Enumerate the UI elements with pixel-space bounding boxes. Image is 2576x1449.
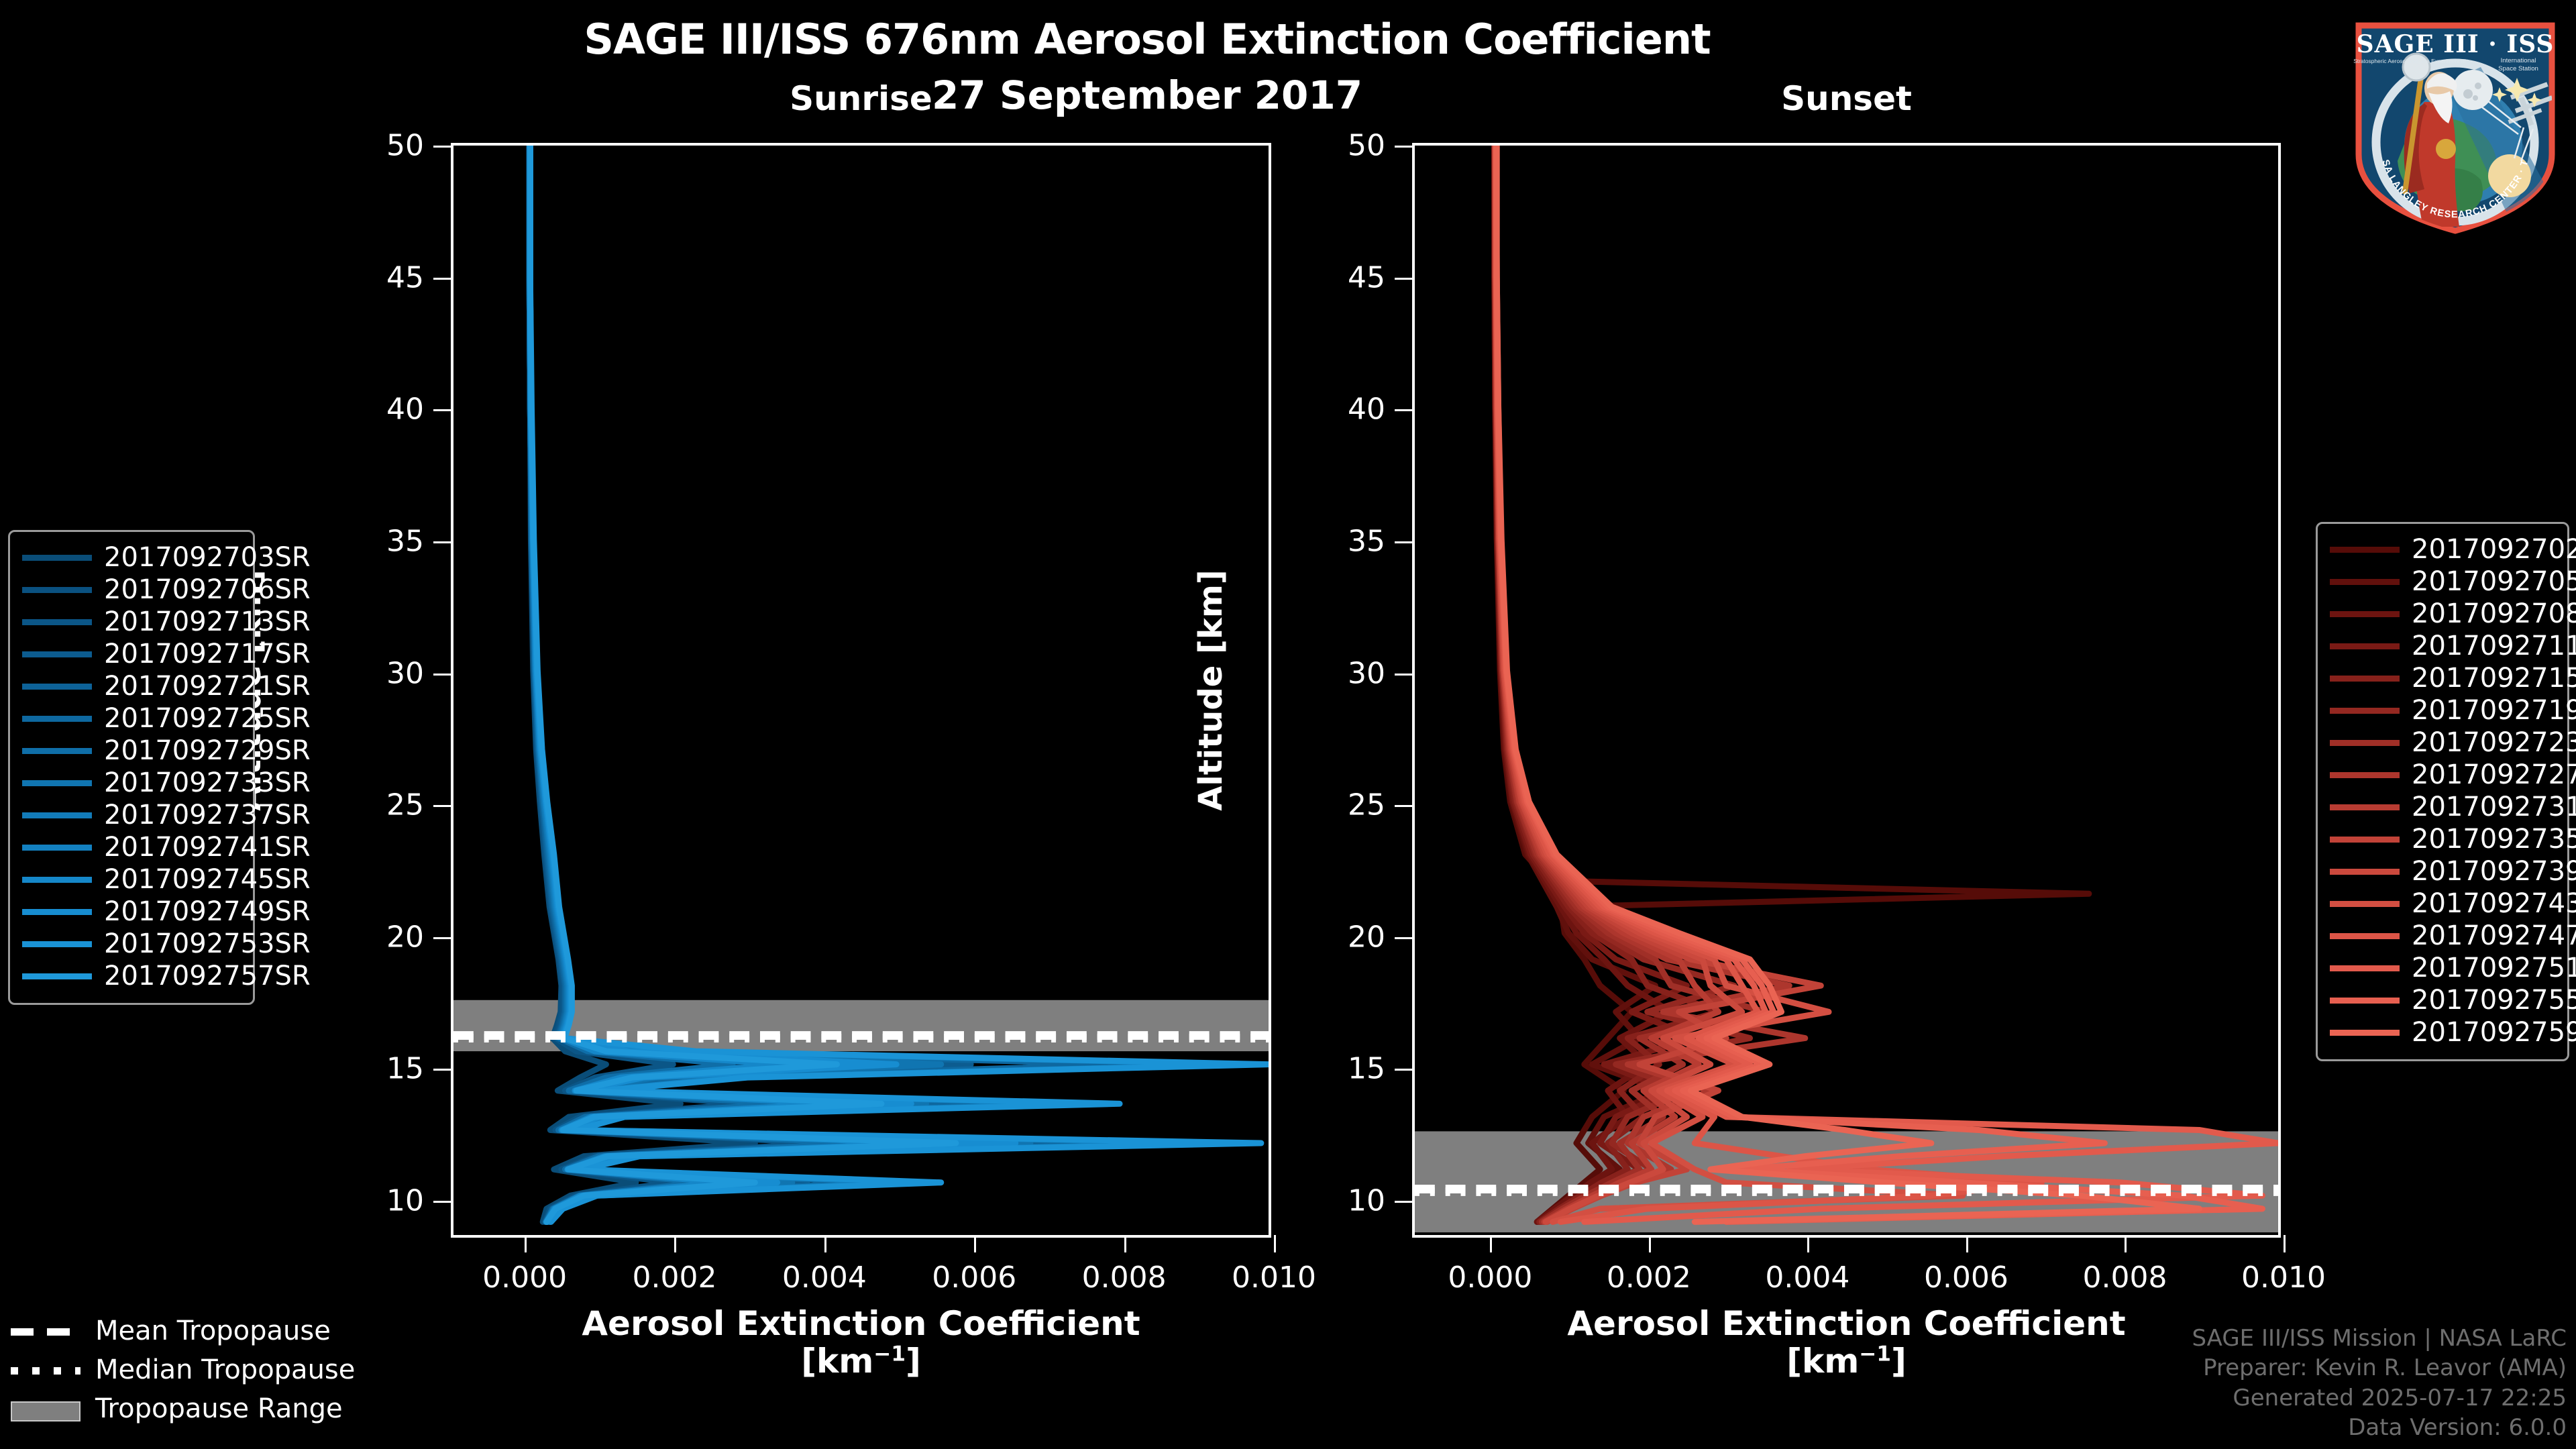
- legend-color-swatch: [22, 909, 92, 915]
- sunrise-legend-item[interactable]: 2017092706SR: [22, 574, 238, 606]
- legend-label: 2017092737SR: [104, 800, 311, 830]
- legend-color-swatch: [2330, 611, 2400, 617]
- plot-canvas: [453, 146, 1269, 1235]
- y-axis-tick: [1395, 146, 1415, 148]
- sunset-legend-item[interactable]: 2017092735SS: [2330, 823, 2553, 855]
- sunset-legend-item[interactable]: 2017092715SS: [2330, 662, 2553, 694]
- legend-color-swatch: [22, 780, 92, 786]
- y-axis-tick: [433, 674, 453, 676]
- sunset-plot: 1015202530354045500.0000.0020.0040.0060.…: [1412, 143, 2281, 1238]
- y-axis-tick: [1395, 409, 1415, 411]
- mean-tropopause-label: Mean Tropopause: [95, 1316, 331, 1346]
- x-axis-tick: [525, 1235, 527, 1252]
- legend-item-median-tropopause: Median Tropopause: [11, 1350, 360, 1389]
- sunrise-plot: 1015202530354045500.0000.0020.0040.0060.…: [451, 143, 1271, 1238]
- sunset-y-axis-title: Altitude [km]: [1192, 556, 1230, 824]
- sunrise-legend[interactable]: 2017092703SR2017092706SR2017092713SR2017…: [8, 530, 255, 1005]
- median-tropopause-label: Median Tropopause: [95, 1354, 355, 1385]
- x-axis-tick-label: 0.002: [1607, 1260, 1691, 1295]
- sunrise-legend-item[interactable]: 2017092749SR: [22, 896, 238, 928]
- y-axis-tick: [433, 541, 453, 543]
- legend-label: 2017092731SS: [2412, 792, 2576, 822]
- y-axis-tick-label: 20: [386, 920, 424, 954]
- x-axis-tick: [2284, 1235, 2286, 1252]
- legend-label: 2017092741SR: [104, 832, 311, 863]
- y-axis-tick: [1395, 1201, 1415, 1203]
- footer-line-version: Data Version: 6.0.0: [2192, 1413, 2567, 1442]
- y-axis-tick: [433, 937, 453, 939]
- legend-label: 2017092727SS: [2412, 759, 2576, 790]
- x-axis-title-line1: Aerosol Extinction Coefficient: [451, 1305, 1271, 1342]
- x-axis-tick-label: 0.000: [1448, 1260, 1532, 1295]
- legend-label: 2017092759SS: [2412, 1017, 2576, 1048]
- legend-label: 2017092721SR: [104, 671, 311, 702]
- legend-label: 2017092733SR: [104, 767, 311, 798]
- y-axis-tick: [433, 805, 453, 807]
- x-axis-tick-label: 0.008: [2082, 1260, 2167, 1295]
- x-axis-title-line2: [km−1]: [451, 1342, 1271, 1380]
- x-axis-tick-label: 0.006: [932, 1260, 1016, 1295]
- x-axis-tick: [1966, 1235, 1968, 1252]
- legend-label: 2017092729SR: [104, 735, 311, 766]
- legend-label: 2017092717SR: [104, 639, 311, 669]
- legend-label: 2017092735SS: [2412, 824, 2576, 855]
- legend-color-swatch: [2330, 965, 2400, 971]
- sunset-legend-item[interactable]: 2017092708SS: [2330, 598, 2553, 630]
- x-axis-tick-label: 0.010: [2241, 1260, 2326, 1295]
- sunrise-legend-item[interactable]: 2017092757SR: [22, 960, 238, 992]
- sunrise-legend-item[interactable]: 2017092721SR: [22, 670, 238, 702]
- sunrise-legend-item[interactable]: 2017092741SR: [22, 831, 238, 863]
- legend-label: 2017092719SS: [2412, 695, 2576, 726]
- footer-credits: SAGE III/ISS Mission | NASA LaRC Prepare…: [2192, 1324, 2567, 1442]
- y-axis-tick: [433, 146, 453, 148]
- legend-color-swatch: [22, 941, 92, 947]
- y-axis-tick-label: 45: [1348, 260, 1385, 294]
- y-axis-tick: [1395, 1069, 1415, 1071]
- sunset-legend-item[interactable]: 2017092723SS: [2330, 727, 2553, 759]
- logo-subtitle-left: Stratospheric Aerosol and Gas Experiment…: [2353, 58, 2466, 64]
- legend-label: 2017092711SS: [2412, 631, 2576, 661]
- x-axis-tick: [1124, 1235, 1126, 1252]
- legend-label: 2017092739SS: [2412, 856, 2576, 887]
- y-axis-tick-label: 35: [386, 524, 424, 558]
- legend-color-swatch: [2330, 804, 2400, 810]
- legend-label: 2017092713SR: [104, 606, 311, 637]
- footer-line-preparer: Preparer: Kevin R. Leavor (AMA): [2192, 1353, 2567, 1383]
- y-axis-tick-label: 45: [386, 260, 424, 294]
- legend-color-swatch: [2330, 869, 2400, 875]
- legend-color-swatch: [2330, 643, 2400, 649]
- legend-label: 2017092715SS: [2412, 663, 2576, 694]
- legend-color-swatch: [22, 748, 92, 754]
- tropopause-range-label: Tropopause Range: [95, 1393, 343, 1424]
- y-axis-tick-label: 25: [386, 788, 424, 822]
- profile-line: [1496, 146, 2041, 1222]
- legend-color-swatch: [22, 973, 92, 979]
- legend-item-tropopause-range: Tropopause Range: [11, 1389, 360, 1428]
- sunset-legend-item[interactable]: 2017092739SS: [2330, 855, 2553, 888]
- x-axis-tick: [1490, 1235, 1492, 1252]
- sunset-legend-item[interactable]: 2017092711SS: [2330, 630, 2553, 662]
- x-axis-tick-label: 0.010: [1232, 1260, 1316, 1295]
- legend-label: 2017092725SR: [104, 703, 311, 734]
- sunrise-panel-title: Sunrise: [451, 79, 1271, 118]
- x-axis-tick: [824, 1235, 826, 1252]
- x-axis-tick-label: 0.006: [1924, 1260, 2008, 1295]
- logo-subtitle-right-1: International: [2501, 57, 2536, 64]
- legend-color-swatch: [22, 845, 92, 851]
- x-axis-tick-label: 0.004: [1765, 1260, 1849, 1295]
- legend-color-swatch: [22, 555, 92, 561]
- sunset-legend-item[interactable]: 2017092705SS: [2330, 566, 2553, 598]
- legend-color-swatch: [2330, 998, 2400, 1004]
- x-axis-tick-label: 0.004: [782, 1260, 867, 1295]
- profile-line: [1495, 146, 1719, 1222]
- legend-label: 2017092703SR: [104, 542, 311, 573]
- y-axis-tick-label: 40: [1348, 392, 1385, 427]
- profile-line: [1495, 146, 1750, 1222]
- x-axis-tick: [1274, 1235, 1276, 1252]
- legend-color-swatch: [22, 684, 92, 690]
- y-axis-tick-label: 15: [386, 1052, 424, 1086]
- profile-line: [1495, 146, 1719, 1222]
- legend-color-swatch: [22, 812, 92, 818]
- sunrise-x-axis-title: Aerosol Extinction Coefficient [km−1]: [451, 1305, 1271, 1380]
- legend-label: 2017092745SR: [104, 864, 311, 895]
- mission-patch-icon: SAGE III · ISS Stratospheric Aerosol and…: [2339, 3, 2572, 236]
- legend-color-swatch: [2330, 901, 2400, 907]
- plot-canvas: [1415, 146, 2278, 1235]
- legend-color-swatch: [2330, 837, 2400, 843]
- footer-line-generated: Generated 2025-07-17 22:25: [2192, 1383, 2567, 1413]
- legend-label: 2017092708SS: [2412, 598, 2576, 629]
- sunset-x-axis-title: Aerosol Extinction Coefficient [km−1]: [1412, 1305, 2281, 1380]
- sage-iii-iss-mission-patch-logo: SAGE III · ISS Stratospheric Aerosol and…: [2339, 3, 2572, 236]
- dotted-line-icon: [11, 1361, 80, 1379]
- x-axis-title-line2: [km−1]: [1412, 1342, 2281, 1380]
- sunrise-legend-item[interactable]: 2017092753SR: [22, 928, 238, 960]
- legend-color-swatch: [22, 651, 92, 657]
- x-axis-tick: [974, 1235, 976, 1252]
- sunrise-legend-item[interactable]: 2017092745SR: [22, 863, 238, 896]
- legend-label: 2017092705SS: [2412, 566, 2576, 597]
- sunset-legend-item[interactable]: 2017092743SS: [2330, 888, 2553, 920]
- page-title: SAGE III/ISS 676nm Aerosol Extinction Co…: [0, 15, 2294, 64]
- profile-line: [1495, 146, 2089, 1222]
- band-swatch-icon: [11, 1400, 80, 1417]
- sunset-legend-item[interactable]: 2017092702SS: [2330, 533, 2553, 566]
- x-axis-tick: [674, 1235, 676, 1252]
- sunrise-legend-item[interactable]: 2017092717SR: [22, 638, 238, 670]
- footer-line-mission: SAGE III/ISS Mission | NASA LaRC: [2192, 1324, 2567, 1353]
- legend-color-swatch: [22, 877, 92, 883]
- profile-line: [1495, 146, 1821, 1222]
- sunrise-legend-item[interactable]: 2017092737SR: [22, 799, 238, 831]
- x-axis-tick-label: 0.002: [632, 1260, 716, 1295]
- sunset-plot-area: [1415, 146, 2278, 1235]
- sunset-legend-item[interactable]: 2017092731SS: [2330, 791, 2553, 823]
- sunrise-legend-item[interactable]: 2017092703SR: [22, 541, 238, 574]
- y-axis-tick: [1395, 541, 1415, 543]
- y-axis-tick: [1395, 674, 1415, 676]
- y-axis-tick-label: 25: [1348, 788, 1385, 822]
- legend-item-mean-tropopause: Mean Tropopause: [11, 1311, 360, 1350]
- y-axis-tick-label: 15: [1348, 1052, 1385, 1086]
- legend-label: 2017092743SS: [2412, 888, 2576, 919]
- sunrise-legend-item[interactable]: 2017092729SR: [22, 735, 238, 767]
- y-axis-tick: [433, 1069, 453, 1071]
- legend-color-swatch: [2330, 708, 2400, 714]
- legend-color-swatch: [2330, 740, 2400, 746]
- legend-label: 2017092755SS: [2412, 985, 2576, 1016]
- y-axis-tick-label: 30: [1348, 656, 1385, 690]
- legend-label: 2017092749SR: [104, 896, 311, 927]
- sunset-legend-item[interactable]: 2017092755SS: [2330, 984, 2553, 1016]
- legend-label: 2017092706SR: [104, 574, 311, 605]
- logo-subtitle-right-2: Space Station: [2498, 65, 2538, 72]
- legend-label: 2017092723SS: [2412, 727, 2576, 758]
- x-axis-tick: [2125, 1235, 2127, 1252]
- tropopause-legend: Mean Tropopause Median Tropopause Tropop…: [11, 1311, 360, 1428]
- y-axis-tick-label: 50: [386, 129, 424, 163]
- y-axis-tick: [1395, 278, 1415, 280]
- y-axis-tick-label: 40: [386, 392, 424, 427]
- x-axis-tick: [1649, 1235, 1651, 1252]
- dashed-line-icon: [11, 1322, 80, 1340]
- legend-label: 2017092702SS: [2412, 534, 2576, 565]
- y-axis-tick-label: 50: [1348, 129, 1385, 163]
- y-axis-tick: [433, 409, 453, 411]
- x-axis-tick-label: 0.008: [1082, 1260, 1167, 1295]
- legend-color-swatch: [2330, 772, 2400, 778]
- legend-color-swatch: [2330, 933, 2400, 939]
- y-axis-tick: [433, 278, 453, 280]
- sunset-legend-item[interactable]: 2017092759SS: [2330, 1016, 2553, 1049]
- sunset-legend-item[interactable]: 2017092751SS: [2330, 952, 2553, 984]
- legend-color-swatch: [2330, 547, 2400, 553]
- y-axis-tick-label: 10: [386, 1184, 424, 1218]
- y-axis-tick: [433, 1201, 453, 1203]
- sunset-legend-item[interactable]: 2017092747SS: [2330, 920, 2553, 952]
- sunset-legend-item[interactable]: 2017092727SS: [2330, 759, 2553, 791]
- logo-title: SAGE III · ISS: [2357, 30, 2555, 58]
- sunset-legend-item[interactable]: 2017092719SS: [2330, 694, 2553, 727]
- legend-color-swatch: [2330, 676, 2400, 682]
- legend-color-swatch: [2330, 579, 2400, 585]
- legend-color-swatch: [2330, 1030, 2400, 1036]
- legend-label: 2017092757SR: [104, 961, 311, 991]
- sunrise-legend-item[interactable]: 2017092733SR: [22, 767, 238, 799]
- legend-color-swatch: [22, 619, 92, 625]
- x-axis-title-line1: Aerosol Extinction Coefficient: [1412, 1305, 2281, 1342]
- y-axis-tick: [1395, 805, 1415, 807]
- legend-label: 2017092753SR: [104, 928, 311, 959]
- legend-color-swatch: [22, 716, 92, 722]
- legend-label: 2017092751SS: [2412, 953, 2576, 983]
- y-axis-tick-label: 35: [1348, 524, 1385, 558]
- y-axis-tick-label: 30: [386, 656, 424, 690]
- sunrise-plot-area: [453, 146, 1269, 1235]
- legend-label: 2017092747SS: [2412, 920, 2576, 951]
- x-axis-tick: [1807, 1235, 1809, 1252]
- sunset-legend[interactable]: 2017092702SS2017092705SS2017092708SS2017…: [2316, 522, 2569, 1061]
- y-axis-tick-label: 20: [1348, 920, 1385, 954]
- sunset-panel-title: Sunset: [1412, 79, 2281, 118]
- sunrise-legend-item[interactable]: 2017092713SR: [22, 606, 238, 638]
- y-axis-tick-label: 10: [1348, 1184, 1385, 1218]
- sunrise-legend-item[interactable]: 2017092725SR: [22, 702, 238, 735]
- x-axis-tick-label: 0.000: [482, 1260, 567, 1295]
- legend-color-swatch: [22, 587, 92, 593]
- y-axis-tick: [1395, 937, 1415, 939]
